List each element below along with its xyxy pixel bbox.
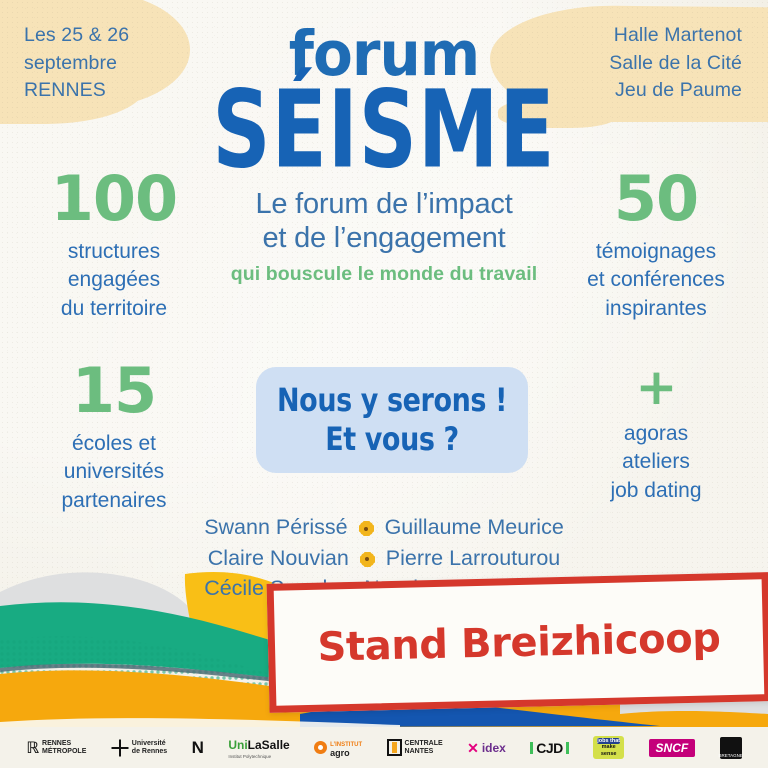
logo-univ-line2: de Rennes [132, 748, 167, 755]
centrale-nantes-icon [387, 739, 402, 756]
logo-rennes-line2: MÉTROPOLE [42, 748, 86, 755]
logo-institut-agro: L’INSTITUT agro [314, 738, 362, 758]
institut-agro-icon [314, 741, 327, 754]
subtitle: Le forum de l’impact et de l’engagement [0, 188, 768, 256]
poster-canvas: Les 25 & 26 septembre RENNES Halle Marte… [0, 0, 768, 768]
speaker-row: Swann Périssé Guillaume Meurice [0, 512, 768, 543]
nantes-universite-icon: N [192, 738, 204, 758]
logo-idex: ✕ idex [467, 741, 506, 755]
speaker-name: Swann Périssé [204, 515, 347, 539]
title-seisme: SÉISME [0, 81, 768, 180]
callout-line-2: Et vous ? [325, 418, 459, 460]
logo-rennes-metropole: ℝ RENNES MÉTROPOLE [26, 738, 86, 757]
subtitle-line-1: Le forum de l’impact [0, 188, 768, 222]
logo-cjd-text: CJD [536, 740, 563, 756]
stat-ecoles-label-3: partenaires [9, 487, 219, 515]
stand-banner: Stand Breizhicoop [267, 572, 768, 713]
speaker-name: Claire Nouvian [208, 546, 349, 570]
stat-temoignages-label-3: inspirantes [551, 295, 761, 323]
speaker-name: Pierre Larrouturou [386, 546, 560, 570]
logo-unilasalle-line1: Uni [228, 738, 247, 752]
stand-banner-text: Stand Breizhicoop [317, 615, 721, 670]
stat-agoras-label: agoras ateliers job dating [551, 420, 761, 505]
stat-ecoles-label: écoles et universités partenaires [9, 430, 219, 515]
stat-ecoles-number: 15 [9, 360, 219, 422]
idex-icon: ✕ [467, 741, 479, 755]
stat-ecoles-label-2: universités [9, 458, 219, 486]
logo-unilasalle-line3: Institut Polytechnique [228, 754, 289, 759]
logo-jobs-line3: sense [597, 751, 620, 757]
logo-nantes-universite: N [192, 738, 204, 758]
speaker-row: Claire Nouvian Pierre Larrouturou [0, 543, 768, 574]
callout-box: Nous y serons ! Et vous ? [256, 367, 528, 473]
tagline: qui bouscule le monde du travail [0, 263, 768, 286]
logo-universite-de-rennes: Université de Rennes [111, 739, 167, 757]
title-block: forum SÉISME Le forum de l’impact et de … [0, 26, 768, 286]
logo-centrale-line1: CENTRALE [405, 740, 443, 747]
logo-cjd: CJD [530, 740, 569, 756]
callout-line-1: Nous y serons ! [277, 379, 507, 421]
partner-logos-strip: ℝ RENNES MÉTROPOLE Université de Rennes … [0, 727, 768, 768]
logo-centrale-nantes: CENTRALE NANTES [387, 739, 443, 756]
logo-jobs-that-make-sense: jobs that make sense [593, 736, 624, 759]
logo-unilasalle: UniLaSalle Institut Polytechnique [228, 736, 289, 759]
logo-sncf: SNCF [649, 739, 696, 757]
logo-region-bretagne: BRETAGNE [720, 737, 742, 759]
logo-rennes-line1: RENNES [42, 740, 71, 747]
stat-agoras-label-3: job dating [551, 477, 761, 505]
logo-agro-line2: agro [330, 748, 350, 758]
flower-icon [361, 553, 374, 566]
flower-icon [360, 522, 373, 535]
stat-ecoles-label-1: écoles et [9, 430, 219, 458]
stat-agoras-label-1: agoras [551, 420, 761, 448]
subtitle-line-2: et de l’engagement [0, 222, 768, 256]
cjd-bar-left-icon [530, 742, 533, 754]
rennes-metropole-icon: ℝ [26, 738, 39, 757]
cjd-bar-right-icon [566, 742, 569, 754]
universite-rennes-icon [111, 739, 129, 757]
stat-agoras-number: + [551, 362, 761, 412]
speaker-name: Guillaume Meurice [385, 515, 564, 539]
logo-idex-text: idex [482, 741, 506, 755]
logo-centrale-line2: NANTES [405, 748, 434, 755]
logo-univ-line1: Université [132, 740, 166, 747]
stat-structures-label-3: du territoire [9, 295, 219, 323]
stat-agoras-label-2: ateliers [551, 448, 761, 476]
stat-ecoles: 15 écoles et universités partenaires [9, 360, 219, 515]
logo-sncf-text: SNCF [649, 739, 696, 757]
logo-unilasalle-line2: LaSalle [248, 738, 290, 752]
logo-bretagne-text: BRETAGNE [720, 737, 742, 759]
stat-agoras: + agoras ateliers job dating [551, 362, 761, 505]
